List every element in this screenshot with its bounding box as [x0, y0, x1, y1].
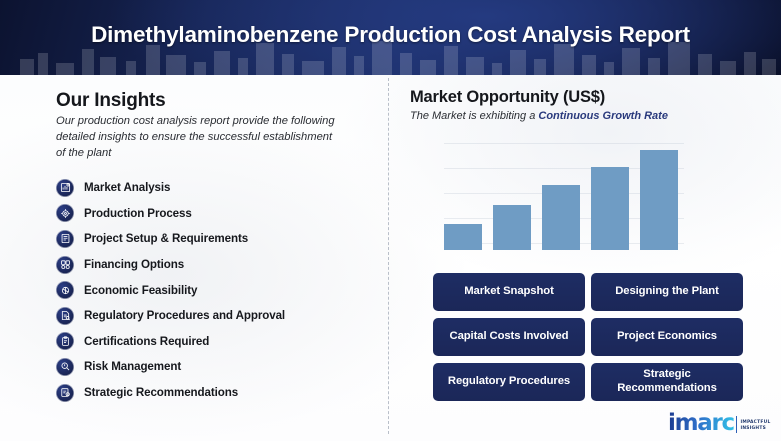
risk-management-icon: [56, 358, 74, 376]
chart-bar: [640, 150, 678, 250]
logo-tagline-line2: INSIGHTS: [740, 426, 766, 431]
list-item-label: Financing Options: [84, 258, 184, 271]
capital-costs-involved-button[interactable]: Capital Costs Involved: [433, 318, 585, 356]
chart-bar: [493, 205, 531, 250]
chart-bar: [591, 167, 629, 250]
slide-canvas: Dimethylaminobenzene Production Cost Ana…: [0, 0, 781, 441]
insights-panel: Our Insights Our production cost analysi…: [0, 75, 388, 441]
list-item-label: Certifications Required: [84, 335, 209, 348]
market-subtitle: The Market is exhibiting a Continuous Gr…: [410, 110, 668, 122]
production-process-icon: [56, 204, 74, 222]
market-heading: Market Opportunity (US$): [410, 88, 605, 107]
list-item[interactable]: Strategic Recommendations: [56, 380, 376, 406]
logo-tagline-line1: IMPACTFUL: [740, 420, 770, 425]
header-banner: Dimethylaminobenzene Production Cost Ana…: [0, 0, 781, 75]
chart-bar: [542, 185, 580, 250]
market-snapshot-button[interactable]: Market Snapshot: [433, 273, 585, 311]
list-item-label: Risk Management: [84, 360, 181, 373]
imarc-logo-wordmark: imarc: [668, 412, 734, 435]
project-economics-button[interactable]: Project Economics: [591, 318, 743, 356]
list-item-label: Market Analysis: [84, 181, 170, 194]
list-item[interactable]: Economic Feasibility: [56, 277, 376, 303]
market-growth-bar-chart: [444, 135, 684, 250]
designing-the-plant-button[interactable]: Designing the Plant: [591, 273, 743, 311]
list-item[interactable]: Risk Management: [56, 354, 376, 380]
chart-gridline: [444, 143, 684, 144]
chart-bar: [444, 224, 482, 250]
market-subtitle-prefix: The Market is exhibiting a: [410, 110, 538, 122]
logo-divider: [736, 416, 738, 433]
insights-list: Market Analysis Production Process: [56, 175, 376, 405]
regulatory-procedures-icon: [56, 307, 74, 325]
strategic-recommendations-icon: [56, 384, 74, 402]
project-setup-icon: [56, 230, 74, 248]
list-item-label: Project Setup & Requirements: [84, 232, 248, 245]
market-analysis-icon: [56, 179, 74, 197]
list-item[interactable]: Certifications Required: [56, 329, 376, 355]
insights-subtitle: Our production cost analysis report prov…: [56, 113, 338, 162]
market-subtitle-accent: Continuous Growth Rate: [538, 110, 668, 122]
list-item-label: Economic Feasibility: [84, 284, 197, 297]
insights-heading: Our Insights: [56, 90, 166, 112]
list-item[interactable]: Project Setup & Requirements: [56, 226, 376, 252]
certifications-icon: [56, 332, 74, 350]
market-opportunity-panel: Market Opportunity (US$) The Market is e…: [388, 75, 781, 441]
regulatory-procedures-button[interactable]: Regulatory Procedures: [433, 363, 585, 401]
strategic-recommendations-button[interactable]: Strategic Recommendations: [591, 363, 743, 401]
list-item-label: Strategic Recommendations: [84, 386, 238, 399]
topics-button-grid: Market Snapshot Designing the Plant Capi…: [433, 273, 743, 401]
list-item-label: Production Process: [84, 207, 192, 220]
economic-feasibility-icon: [56, 281, 74, 299]
imarc-logo[interactable]: imarc IMPACTFUL INSIGHTS: [668, 405, 774, 435]
list-item[interactable]: Regulatory Procedures and Approval: [56, 303, 376, 329]
list-item[interactable]: Production Process: [56, 201, 376, 227]
imarc-logo-tagline: IMPACTFUL INSIGHTS: [740, 420, 770, 432]
page-title: Dimethylaminobenzene Production Cost Ana…: [0, 22, 781, 48]
financing-options-icon: [56, 256, 74, 274]
list-item-label: Regulatory Procedures and Approval: [84, 309, 285, 322]
list-item[interactable]: Market Analysis: [56, 175, 376, 201]
list-item[interactable]: Financing Options: [56, 252, 376, 278]
